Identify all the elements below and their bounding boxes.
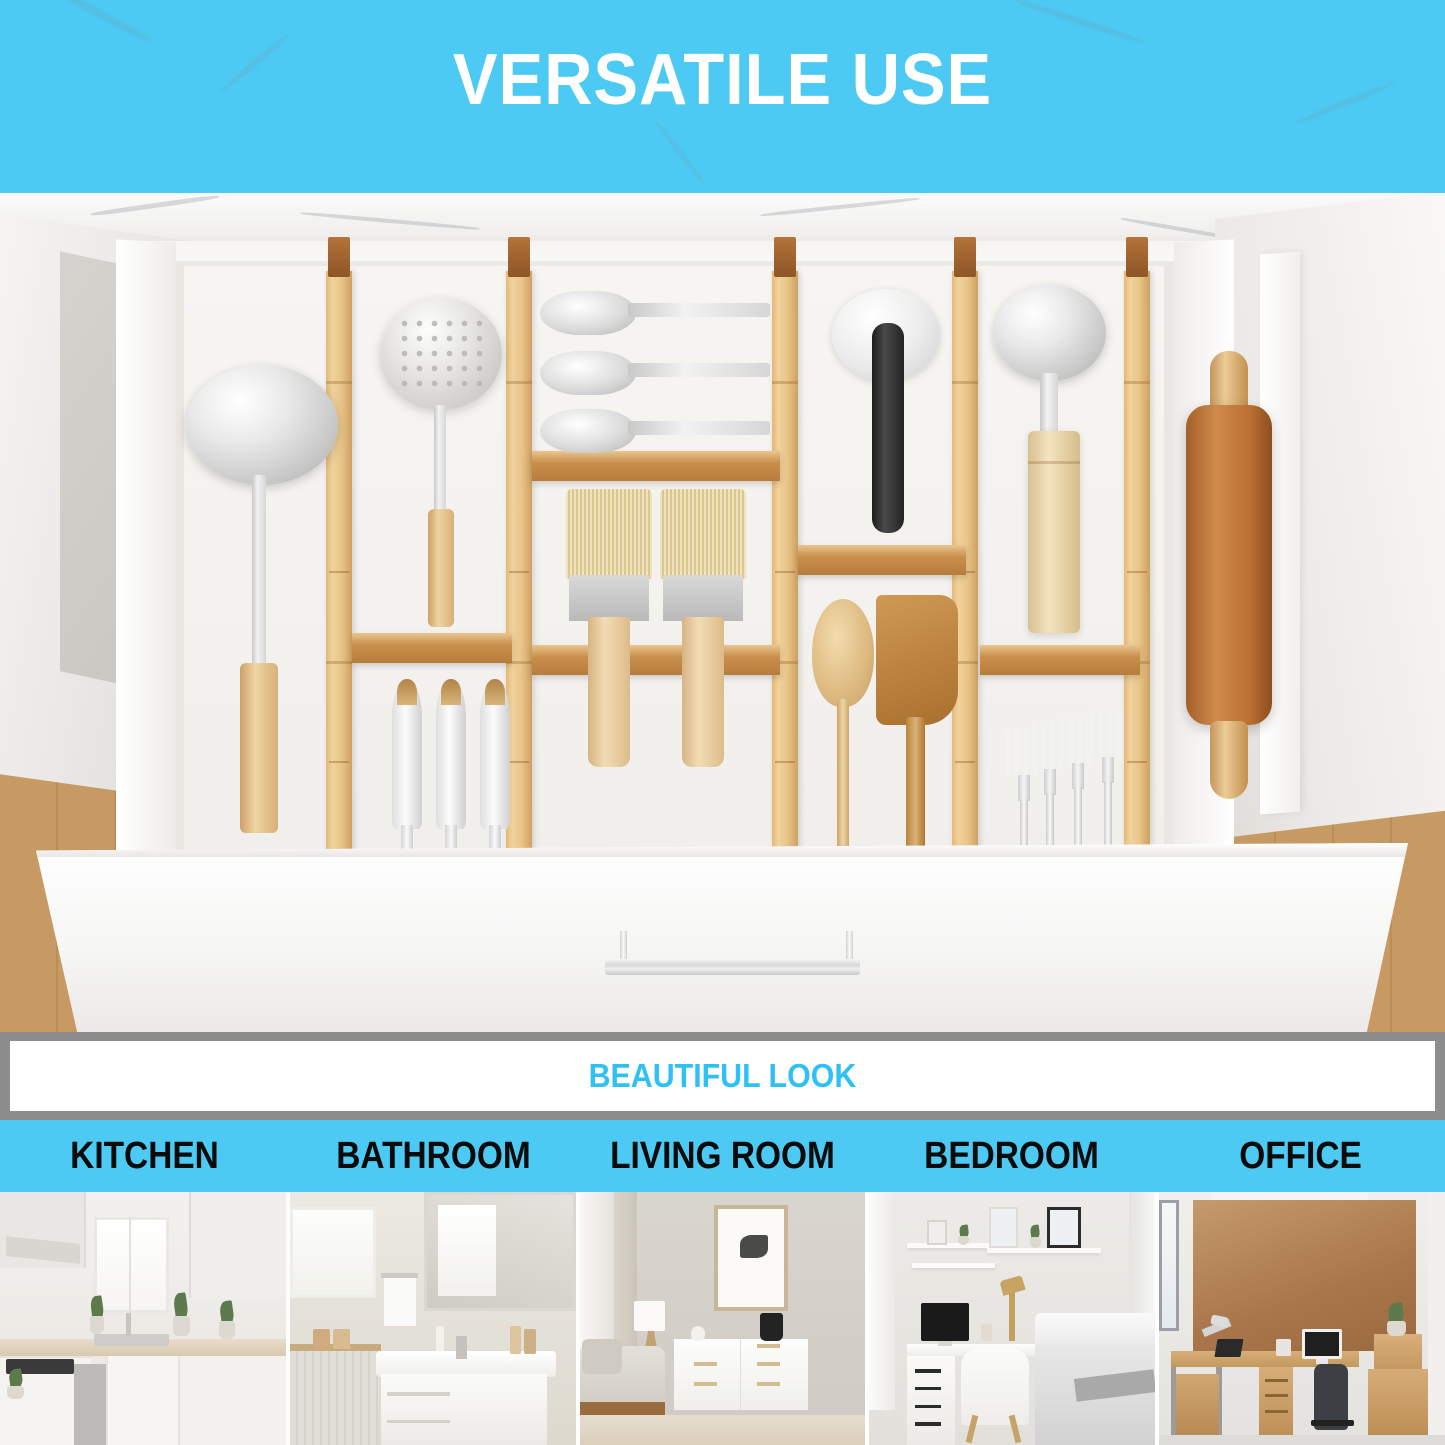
skimmer-head	[380, 298, 502, 410]
bedroom-wall-shelf	[912, 1263, 995, 1268]
living-room-vase	[760, 1313, 783, 1341]
living-room-drawer-pull	[694, 1382, 717, 1386]
skimmer-wood-handle	[428, 509, 454, 627]
drawer-pull-handle[interactable]	[605, 959, 860, 975]
living-room-drawer-pull	[757, 1362, 780, 1366]
bedroom-drawer-pull	[915, 1405, 941, 1409]
room-labels-bar: KITCHEN BATHROOM LIVING ROOM BEDROOM OFF…	[0, 1120, 1445, 1192]
office-desk-return	[1176, 1374, 1219, 1435]
pastry-brush	[566, 489, 652, 771]
bathroom-vanity	[381, 1374, 547, 1445]
bedroom-monitor-screen	[921, 1303, 970, 1341]
bathroom-lotion-bottle	[510, 1326, 521, 1354]
ladle-bowl	[186, 365, 338, 485]
bedroom-curtain	[869, 1192, 895, 1410]
bedroom-monitor-stand	[938, 1341, 952, 1346]
serving-spoon-bowl	[540, 351, 636, 395]
bamboo-divider-horizontal	[798, 545, 966, 575]
beautiful-look-bar: BEAUTIFUL LOOK	[0, 1032, 1445, 1120]
office-monitor	[1302, 1329, 1342, 1359]
living-room-lamp-shade	[634, 1301, 665, 1331]
drawer-rim-left	[116, 239, 176, 862]
room-label-kitchen: KITCHEN	[17, 1135, 271, 1178]
bathroom-drawer-line	[387, 1392, 450, 1396]
thumbnail-kitchen	[0, 1192, 286, 1445]
office-pedestal-drawers	[1259, 1367, 1293, 1435]
kitchen-plant	[214, 1301, 240, 1339]
living-room-drawer-pull	[757, 1344, 780, 1348]
living-room-drawer-pull	[694, 1362, 717, 1366]
bedroom-framed-print	[989, 1207, 1018, 1247]
kitchen-sink	[94, 1334, 168, 1347]
bathroom-toothbrush-cup	[333, 1329, 350, 1349]
living-room-ceramic-object	[691, 1326, 705, 1341]
bedroom-plant	[1027, 1225, 1044, 1248]
room-thumbnail-strip	[0, 1192, 1445, 1445]
office-cabinet-upper	[1374, 1334, 1423, 1374]
beautiful-look-text: BEAUTIFUL LOOK	[589, 1057, 857, 1095]
bathroom-toothbrush-cup	[313, 1329, 330, 1349]
kitchen-plant	[3, 1369, 29, 1399]
marble-vein	[300, 211, 480, 231]
thumbnail-bedroom	[869, 1192, 1155, 1445]
bedroom-desk-lamp-arm	[1009, 1286, 1015, 1342]
kitchen-base-cabinet-right	[180, 1356, 286, 1445]
kitchen-upper-cabinet-right	[189, 1192, 286, 1298]
thumbnail-living-room	[580, 1192, 866, 1445]
bamboo-divider-vertical	[326, 271, 352, 861]
hero-product-photo	[0, 193, 1445, 1032]
header-banner: VERSATILE USE	[0, 0, 1445, 193]
room-label-bathroom: BATHROOM	[306, 1135, 560, 1178]
wooden-spoon	[812, 599, 874, 871]
ladle-bowl	[994, 285, 1106, 381]
living-room-drawer-pull	[757, 1382, 780, 1386]
serving-spoon-handle	[628, 303, 770, 317]
serving-spoon-handle	[628, 363, 770, 377]
kitchen-oven	[74, 1364, 105, 1445]
kitchen-plant	[169, 1293, 195, 1336]
bathroom-beadboard	[290, 1351, 379, 1445]
skimmer-shaft	[434, 405, 446, 513]
marble-vein	[760, 197, 920, 218]
beautiful-look-panel: BEAUTIFUL LOOK	[10, 1041, 1435, 1111]
bedroom-picture-ledge	[987, 1248, 1101, 1253]
office-drawer-line	[1265, 1379, 1288, 1382]
thumbnail-bathroom	[290, 1192, 576, 1445]
living-room-cushion	[582, 1339, 622, 1374]
bathroom-window	[290, 1207, 376, 1298]
office-drawer-line	[1265, 1410, 1288, 1413]
thumbnail-office	[1159, 1192, 1445, 1445]
drawer-front[interactable]	[36, 843, 1408, 1032]
office-plant	[1382, 1303, 1411, 1336]
living-room-sideboard-seam	[740, 1339, 742, 1410]
bedroom-drawer-pull	[915, 1422, 941, 1426]
office-drawer-line	[1265, 1394, 1288, 1397]
bathroom-faucet	[456, 1336, 467, 1359]
serving-spoon-bowl	[540, 291, 636, 335]
living-room-art-branch	[740, 1235, 769, 1258]
living-room-framed-art	[714, 1205, 788, 1311]
marble-vein	[653, 119, 706, 185]
bedroom-drawer-pull	[915, 1387, 941, 1391]
office-window	[1159, 1200, 1179, 1332]
bathroom-soap-bottle	[436, 1326, 445, 1351]
bamboo-divider-vertical	[772, 271, 798, 861]
office-laptop	[1215, 1339, 1244, 1357]
marble-vein	[1012, 0, 1147, 46]
living-room-sofa-base	[580, 1402, 666, 1415]
bedroom-framed-print	[927, 1220, 947, 1245]
kitchen-faucet	[126, 1313, 132, 1336]
office-chair-base	[1311, 1420, 1354, 1426]
bamboo-divider-vertical	[1124, 271, 1150, 861]
banner-title: VERSATILE USE	[51, 44, 1395, 116]
ladle-wood-handle	[240, 663, 278, 833]
office-wall-right	[1428, 1192, 1445, 1445]
serving-spoon-bowl	[540, 409, 636, 453]
bathroom-towel-bar	[381, 1273, 418, 1278]
marble-vein	[90, 194, 219, 217]
ladle-shaft	[252, 475, 266, 675]
bathroom-lotion-bottle	[524, 1329, 535, 1354]
kitchen-base-cabinet-center	[106, 1356, 180, 1445]
skimmer-holes	[397, 316, 485, 392]
room-label-living-room: LIVING ROOM	[595, 1135, 849, 1178]
office-cabinet-lower	[1368, 1369, 1428, 1435]
office-ceiling-light	[1211, 1192, 1368, 1200]
wood-cylinder	[1028, 431, 1080, 633]
bedroom-chair	[961, 1349, 1030, 1425]
room-label-bedroom: BEDROOM	[884, 1135, 1138, 1178]
bedroom-plant	[955, 1225, 972, 1245]
bathroom-towel	[384, 1275, 415, 1326]
wooden-spatula	[876, 595, 958, 875]
bamboo-divider-horizontal	[980, 645, 1140, 675]
marble-vein	[45, 0, 155, 46]
office-pencil-cup	[1276, 1339, 1290, 1357]
pizza-cutter-handle	[872, 323, 904, 533]
bedroom-framed-print	[1047, 1207, 1081, 1247]
serving-spoon-handle	[628, 421, 770, 435]
bamboo-divider-horizontal	[352, 633, 512, 663]
bathroom-mirror-reflection	[438, 1205, 495, 1296]
kitchen-window-mullion	[129, 1217, 131, 1313]
bamboo-divider-horizontal	[532, 451, 780, 481]
room-label-office: OFFICE	[1173, 1135, 1427, 1178]
office-floor	[1159, 1435, 1445, 1445]
bathroom-drawer-line	[387, 1420, 450, 1424]
living-room-floor	[580, 1415, 866, 1445]
pastry-brush	[660, 489, 746, 771]
bedroom-drawer-pull	[915, 1369, 941, 1373]
kitchen-plant	[86, 1296, 109, 1334]
rolling-pin	[1186, 345, 1272, 815]
bedroom-pencil-cup	[981, 1324, 992, 1342]
